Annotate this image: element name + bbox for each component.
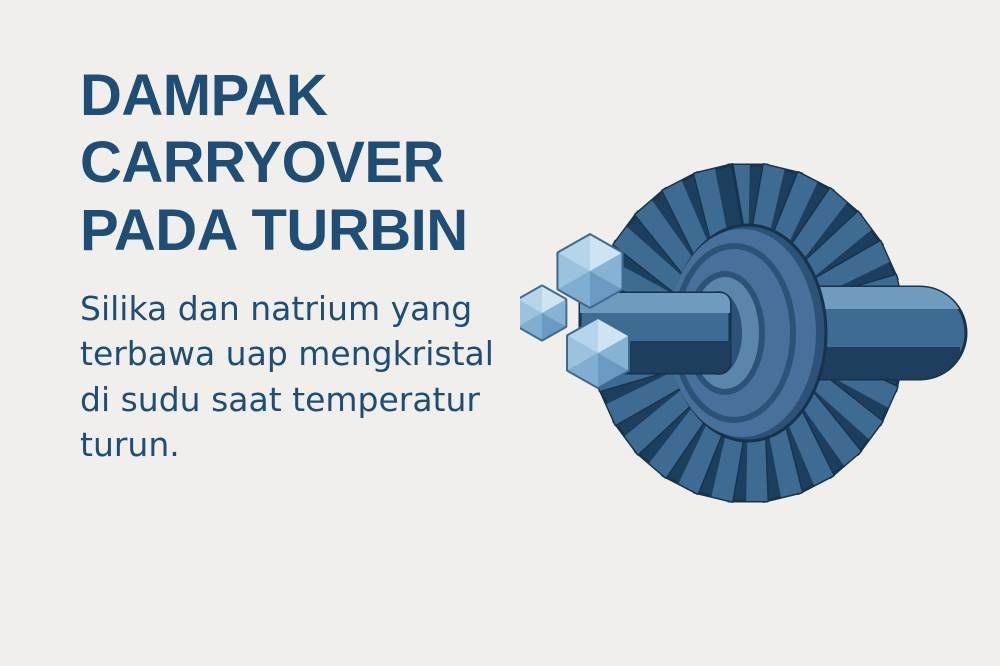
poster-canvas: DAMPAK CARRYOVER PADA TURBIN Silika dan …	[0, 0, 1000, 666]
body-paragraph: Silika dan natrium yang terbawa uap meng…	[80, 264, 550, 468]
crystal-deposit-left	[520, 286, 565, 339]
page-title: DAMPAK CARRYOVER PADA TURBIN	[80, 62, 550, 264]
turbine-illustration	[520, 75, 990, 585]
crystal-deposit-lower	[568, 319, 628, 387]
text-block: DAMPAK CARRYOVER PADA TURBIN Silika dan …	[80, 62, 550, 468]
crystal-deposit-upper	[559, 235, 622, 306]
